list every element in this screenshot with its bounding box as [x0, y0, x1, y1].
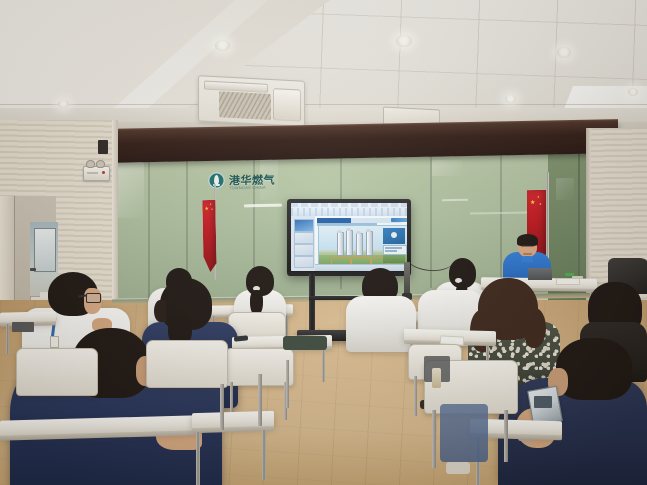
display-screen [291, 203, 407, 271]
downlight-icon [557, 47, 571, 58]
glass-reflection [118, 158, 144, 218]
shoe [446, 462, 470, 474]
stacking-chair[interactable] [16, 348, 98, 396]
slide-canvas [318, 225, 407, 265]
powerpoint-ribbon [291, 203, 407, 217]
desk-leg [322, 348, 325, 382]
slide-thumbnail[interactable] [294, 219, 314, 232]
laptop[interactable] [528, 268, 552, 280]
powerpoint-toolbar-icons[interactable] [291, 208, 407, 216]
chair-leg [504, 410, 508, 462]
chair-leg [220, 384, 224, 430]
downlight-icon [215, 40, 230, 51]
powerpoint-status-bar [315, 264, 407, 271]
slide-tank [366, 231, 373, 256]
slide-thumbnail[interactable] [294, 256, 314, 268]
downlight-icon [396, 35, 412, 47]
stacking-chair[interactable] [146, 340, 228, 388]
cart-side-bracket [404, 262, 410, 296]
training-room-photo: 港华燃气 TOWNGAS CHINA ★ ★ ★ ★ ★ ★ [0, 0, 647, 485]
eyeglasses [86, 293, 101, 303]
handout-paper[interactable] [556, 278, 580, 285]
flag-pole-right [546, 172, 549, 264]
partition-mullion [148, 152, 150, 302]
chair-leg [258, 374, 262, 426]
glass-reflection [556, 178, 574, 200]
glass-reflection [432, 160, 462, 176]
partition-mullion [500, 147, 502, 289]
slide-tank [346, 230, 353, 256]
ceiling-ac-unit [198, 75, 305, 127]
downlight-icon [505, 95, 516, 103]
powerpoint-tab-row[interactable] [291, 203, 407, 207]
attendee-head [556, 338, 632, 400]
wall-fixture [98, 140, 108, 154]
attendee-hair-side [154, 300, 166, 322]
attendee-legs [440, 404, 488, 462]
presenter-eyes [521, 245, 534, 247]
attendee-hair-side [524, 308, 546, 348]
slide-thumbnail-pane[interactable] [291, 216, 316, 271]
desk-leg [196, 432, 200, 485]
emergency-exit-light [83, 166, 110, 181]
presenter-mouth [523, 253, 532, 255]
presentation-display[interactable] [287, 199, 411, 275]
slide-title-bar [317, 218, 401, 223]
water-bottle[interactable] [432, 368, 441, 388]
floor-mat [283, 336, 327, 350]
slide-editing-stage [315, 216, 407, 271]
company-tagline-label: TOWNGAS CHINA [229, 185, 266, 191]
cart-post-left [309, 274, 315, 332]
booklet-image [534, 396, 552, 408]
chair-leg [286, 360, 289, 408]
emergency-light-lamp [86, 160, 95, 168]
emergency-light-lamp [96, 160, 105, 168]
slide-logo-mark [391, 218, 407, 222]
slide-thumbnail[interactable] [294, 232, 314, 244]
desk-leg [6, 324, 9, 354]
slide-tank [356, 233, 363, 256]
desk-leg [262, 430, 266, 480]
slide-thumbnail[interactable] [294, 244, 314, 256]
chair-leg [432, 410, 436, 468]
downlight-icon [58, 100, 69, 108]
id-badge [50, 336, 59, 348]
door-handle[interactable] [30, 268, 36, 271]
presenter-collar [522, 256, 533, 262]
downlight-icon [628, 88, 638, 96]
desk-modesty-panel [12, 322, 34, 332]
chair-leg [414, 376, 417, 416]
ceiling-recess-line [0, 104, 647, 105]
partition-mullion [578, 146, 580, 292]
adjacent-room-window [34, 228, 56, 272]
slide-tank [337, 232, 344, 256]
